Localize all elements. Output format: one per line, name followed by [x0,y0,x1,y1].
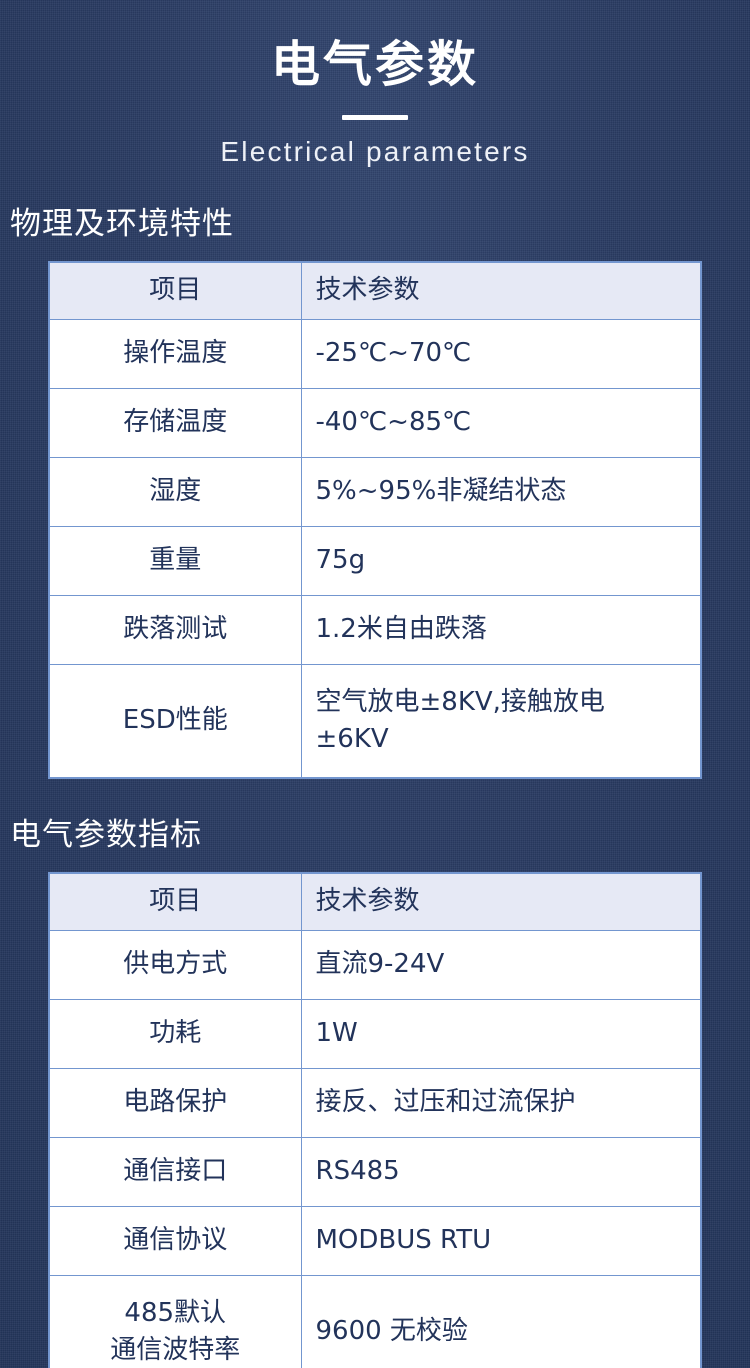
row-value: RS485 [301,1137,701,1206]
table-row: 跌落测试 1.2米自由跌落 [49,595,701,664]
column-header-item: 项目 [49,873,301,931]
row-label: 供电方式 [49,930,301,999]
table-row: 485默认 通信波特率 9600 无校验 [49,1275,701,1368]
page-subtitle: Electrical parameters [0,136,750,168]
title-divider [342,115,408,120]
table-row: 重量 75g [49,526,701,595]
row-value: 接反、过压和过流保护 [301,1068,701,1137]
row-label: 485默认 通信波特率 [49,1275,301,1368]
row-value: MODBUS RTU [301,1206,701,1275]
row-label: 通信接口 [49,1137,301,1206]
table-row: 通信接口 RS485 [49,1137,701,1206]
section-title-electrical: 电气参数指标 [0,809,750,854]
section-physical-environmental: 物理及环境特性 项目 技术参数 操作温度 -25℃~70℃ 存储温度 - [0,198,750,779]
column-header-value: 技术参数 [301,873,701,931]
row-label-line-2: 通信波特率 [50,1332,301,1368]
row-label: 跌落测试 [49,595,301,664]
row-label: 功耗 [49,999,301,1068]
table-row: ESD性能 空气放电±8KV,接触放电 ±6KV [49,664,701,778]
row-value: 9600 无校验 [301,1275,701,1368]
row-label: 电路保护 [49,1068,301,1137]
row-value: 直流9-24V [301,930,701,999]
row-label: 通信协议 [49,1206,301,1275]
page-title: 电气参数 [0,38,750,93]
row-value-line-1: 空气放电±8KV,接触放电 [316,684,691,721]
table-row: 功耗 1W [49,999,701,1068]
table-header-row: 项目 技术参数 [49,262,701,320]
row-label: ESD性能 [49,664,301,778]
table-header-row: 项目 技术参数 [49,873,701,931]
physical-table-head: 项目 技术参数 [49,262,701,320]
electrical-table-body: 供电方式 直流9-24V 功耗 1W 电路保护 接反、过压和过流保护 通信接口 … [49,930,701,1368]
row-label-line-1: 485默认 [50,1295,301,1332]
row-value: 5%~95%非凝结状态 [301,457,701,526]
electrical-spec-table: 项目 技术参数 供电方式 直流9-24V 功耗 1W 电路保护 接反、过压和过流… [48,872,702,1368]
column-header-value: 技术参数 [301,262,701,320]
row-label: 重量 [49,526,301,595]
physical-table-body: 操作温度 -25℃~70℃ 存储温度 -40℃~85℃ 湿度 5%~95%非凝结… [49,319,701,778]
table-row: 操作温度 -25℃~70℃ [49,319,701,388]
row-value-line-2: ±6KV [316,721,691,758]
row-value: 1W [301,999,701,1068]
table-row: 供电方式 直流9-24V [49,930,701,999]
page-header: 电气参数 Electrical parameters [0,0,750,168]
row-value: 75g [301,526,701,595]
row-value: 1.2米自由跌落 [301,595,701,664]
table-row: 电路保护 接反、过压和过流保护 [49,1068,701,1137]
physical-spec-table: 项目 技术参数 操作温度 -25℃~70℃ 存储温度 -40℃~85℃ 湿度 5… [48,261,702,779]
row-label: 操作温度 [49,319,301,388]
row-value: -25℃~70℃ [301,319,701,388]
column-header-item: 项目 [49,262,301,320]
section-electrical-indicators: 电气参数指标 项目 技术参数 供电方式 直流9-24V 功耗 1W [0,809,750,1368]
table-row: 湿度 5%~95%非凝结状态 [49,457,701,526]
table-row: 存储温度 -40℃~85℃ [49,388,701,457]
table-row: 通信协议 MODBUS RTU [49,1206,701,1275]
row-label: 湿度 [49,457,301,526]
page-root: 电气参数 Electrical parameters 物理及环境特性 项目 技术… [0,0,750,1368]
row-value: 空气放电±8KV,接触放电 ±6KV [301,664,701,778]
section-title-physical: 物理及环境特性 [0,198,750,243]
row-value: -40℃~85℃ [301,388,701,457]
electrical-table-head: 项目 技术参数 [49,873,701,931]
row-label: 存储温度 [49,388,301,457]
